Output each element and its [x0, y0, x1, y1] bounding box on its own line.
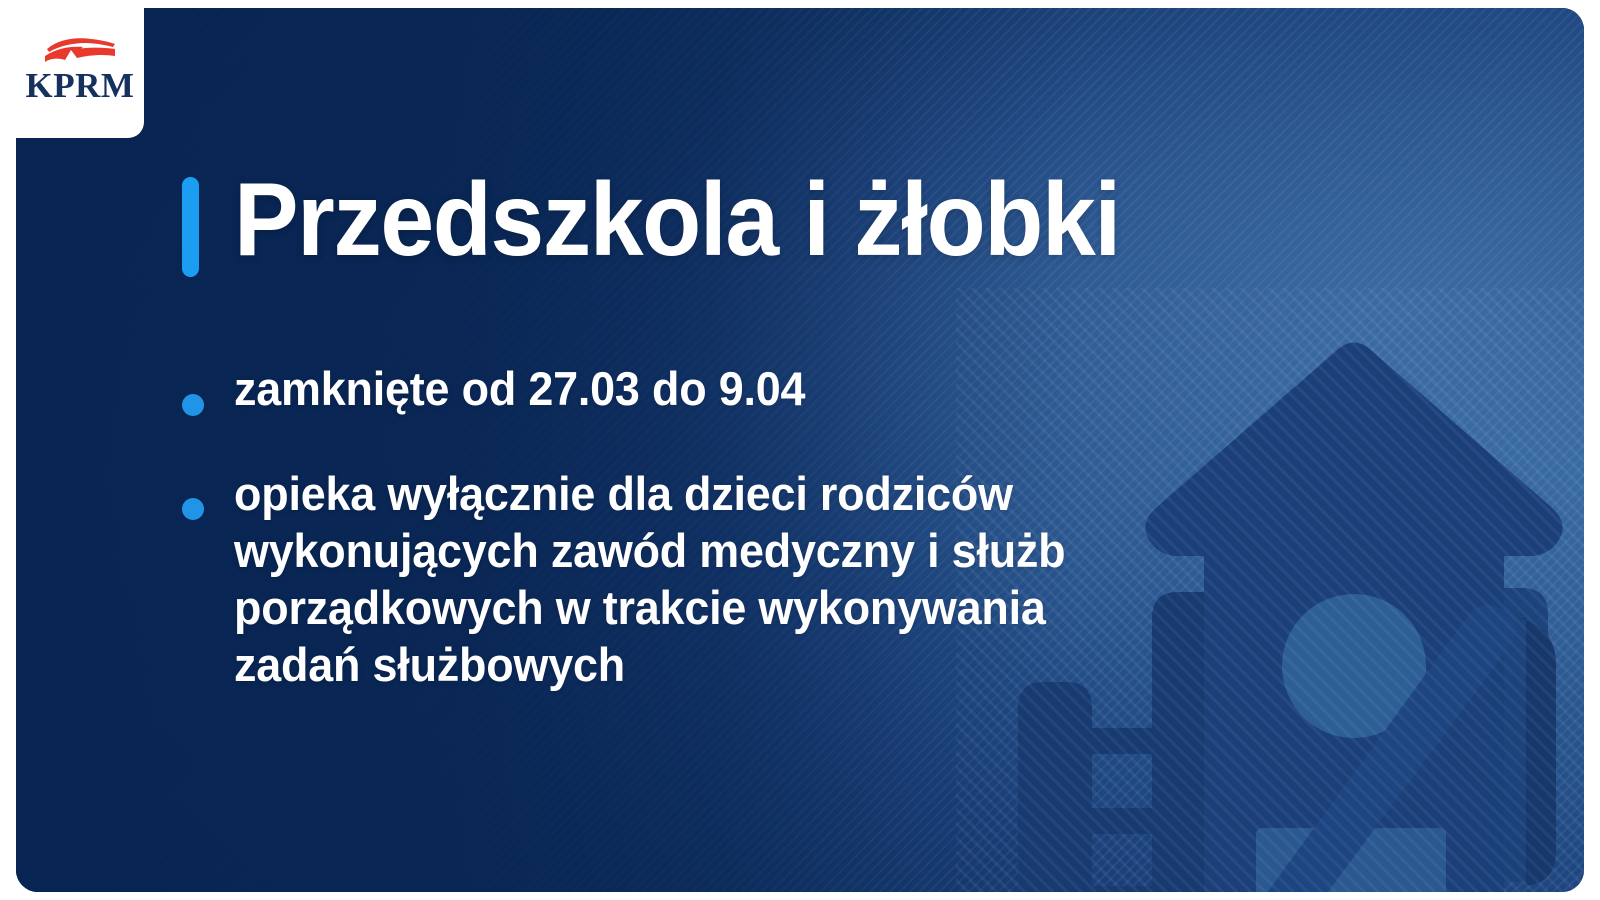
bullet-text: opieka wyłącznie dla dzieci rodziców wyk… [234, 465, 1065, 693]
page-title-row: Przedszkola i żłobki [182, 168, 1187, 277]
poster-canvas: Przedszkola i żłobki zamknięte od 27.03 … [0, 0, 1600, 900]
bullet-line: porządkowych w trakcie wykonywania [234, 579, 1065, 636]
poster-content: Przedszkola i żłobki zamknięte od 27.03 … [16, 8, 1584, 892]
kprm-logo-text: KPRM [26, 68, 135, 103]
title-accent-bar [182, 177, 199, 277]
polish-flag-icon [41, 36, 119, 66]
bullet-line: wykonujących zawód medyczny i służb [234, 522, 1065, 579]
list-item: opieka wyłącznie dla dzieci rodziców wyk… [182, 465, 1182, 693]
poster-card: Przedszkola i żłobki zamknięte od 27.03 … [16, 8, 1584, 892]
bullet-list: zamknięte od 27.03 do 9.04 opieka wyłącz… [182, 360, 1182, 693]
bullet-line: zamknięte od 27.03 do 9.04 [234, 360, 805, 417]
list-item: zamknięte od 27.03 do 9.04 [182, 360, 1182, 417]
bullet-dot-icon [182, 498, 204, 520]
bullet-text: zamknięte od 27.03 do 9.04 [234, 360, 805, 417]
bullet-dot-icon [182, 394, 204, 416]
bullet-line: opieka wyłącznie dla dzieci rodziców [234, 465, 1065, 522]
bullet-line: zadań służbowych [234, 636, 1065, 693]
kprm-logo-panel: KPRM [16, 0, 144, 138]
page-title: Przedszkola i żłobki [234, 168, 1120, 272]
